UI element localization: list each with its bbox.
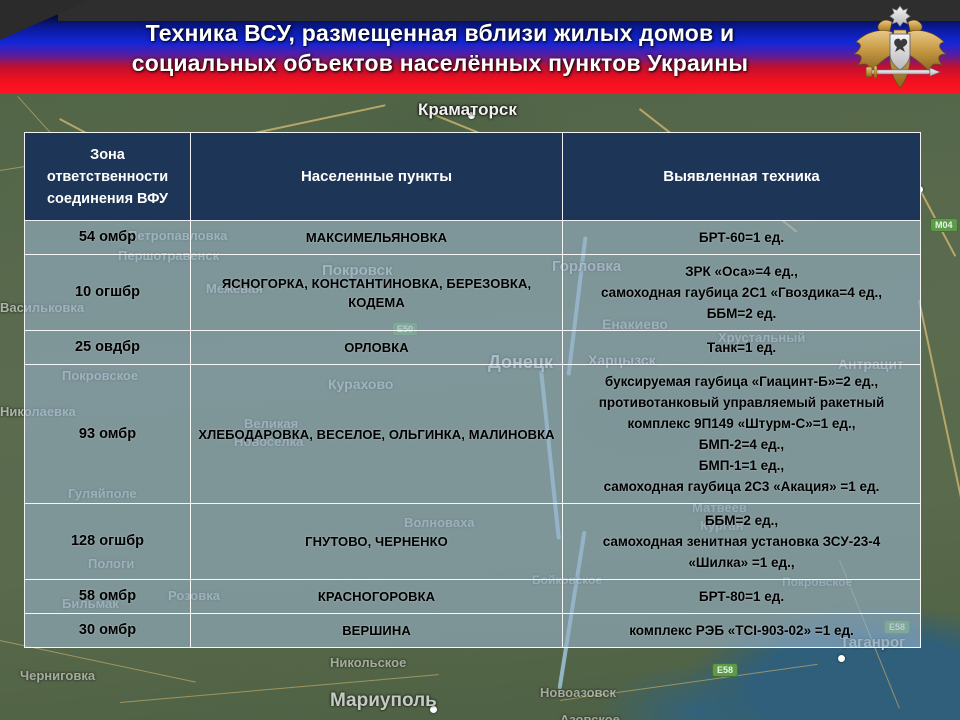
cell-settlements: МАКСИМЕЛЬЯНОВКА	[191, 221, 563, 255]
table-row: 58 омбрКРАСНОГОРОВКАБРТ-80=1 ед.	[25, 580, 921, 614]
title-banner: Техника ВСУ, размещенная вблизи жилых до…	[0, 0, 960, 93]
cell-equipment: буксируемая гаубица «Гиацинт-Б»=2 ед.,пр…	[563, 365, 921, 504]
table-row: 10 огшбрЯСНОГОРКА, КОНСТАНТИНОВКА, БЕРЕЗ…	[25, 255, 921, 331]
cell-equipment: комплекс РЭБ «TCI-903-02» =1 ед.	[563, 614, 921, 648]
cell-zone: 25 овдбр	[25, 331, 191, 365]
table-body: 54 омбрМАКСИМЕЛЬЯНОВКАБРТ-60=1 ед.10 огш…	[25, 221, 921, 648]
map-city-dot	[838, 655, 845, 662]
cell-equipment: ЗРК «Оса»=4 ед.,самоходная гаубица 2С1 «…	[563, 255, 921, 331]
column-header-zone-line3: соединения ВФУ	[33, 188, 182, 210]
page-title-line-1: Техника ВСУ, размещенная вблизи жилых до…	[40, 18, 840, 48]
table-row: 25 овдбрОРЛОВКАТанк=1 ед.	[25, 331, 921, 365]
cell-settlements: ХЛЕБОДАРОВКА, ВЕСЕЛОЕ, ОЛЬГИНКА, МАЛИНОВ…	[191, 365, 563, 504]
cell-zone: 10 огшбр	[25, 255, 191, 331]
emblem-cross-icon	[890, 6, 910, 26]
cell-zone: 30 омбр	[25, 614, 191, 648]
column-header-zone: Зона ответственности соединения ВФУ	[25, 133, 191, 221]
column-header-settlements: Населенные пункты	[191, 133, 563, 221]
map-label: Азовское	[560, 712, 620, 720]
map-highway-badge: M04	[930, 218, 958, 232]
table-row: 30 омбрВЕРШИНАкомплекс РЭБ «TCI-903-02» …	[25, 614, 921, 648]
cell-equipment: БРТ-60=1 ед.	[563, 221, 921, 255]
table-row: 93 омбрХЛЕБОДАРОВКА, ВЕСЕЛОЕ, ОЛЬГИНКА, …	[25, 365, 921, 504]
cell-settlements: ВЕРШИНА	[191, 614, 563, 648]
equipment-table: Зона ответственности соединения ВФУ Насе…	[24, 132, 921, 648]
rosgvardia-eagle-emblem-icon	[848, 2, 952, 92]
slide-root: КраматорскПетропавловкаПершотравенскПокр…	[0, 0, 960, 720]
cell-zone: 93 омбр	[25, 365, 191, 504]
column-header-equipment: Выявленная техника	[563, 133, 921, 221]
page-title-line-2: социальных объектов населённых пунктов У…	[40, 48, 840, 78]
map-label: Мариуполь	[330, 690, 437, 712]
cell-zone: 128 огшбр	[25, 504, 191, 580]
cell-settlements: ОРЛОВКА	[191, 331, 563, 365]
cell-equipment: ББМ=2 ед.,самоходная зенитная установка …	[563, 504, 921, 580]
column-header-zone-line2: ответственности	[33, 166, 182, 188]
column-header-zone-line1: Зона	[33, 144, 182, 166]
table-header-row: Зона ответственности соединения ВФУ Насе…	[25, 133, 921, 221]
map-label: Черниговка	[20, 668, 95, 683]
cell-equipment: Танк=1 ед.	[563, 331, 921, 365]
page-title: Техника ВСУ, размещенная вблизи жилых до…	[40, 18, 840, 78]
cell-zone: 58 омбр	[25, 580, 191, 614]
table-row: 128 огшбрГНУТОВО, ЧЕРНЕНКОББМ=2 ед.,само…	[25, 504, 921, 580]
map-label: Никольское	[330, 655, 406, 670]
map-label: Новоазовск	[540, 685, 616, 700]
map-label: Краматорск	[418, 100, 517, 120]
cell-settlements: ГНУТОВО, ЧЕРНЕНКО	[191, 504, 563, 580]
map-highway-badge: E58	[712, 663, 738, 677]
table-row: 54 омбрМАКСИМЕЛЬЯНОВКАБРТ-60=1 ед.	[25, 221, 921, 255]
cell-equipment: БРТ-80=1 ед.	[563, 580, 921, 614]
cell-zone: 54 омбр	[25, 221, 191, 255]
table-header: Зона ответственности соединения ВФУ Насе…	[25, 133, 921, 221]
cell-settlements: КРАСНОГОРОВКА	[191, 580, 563, 614]
cell-settlements: ЯСНОГОРКА, КОНСТАНТИНОВКА, БЕРЕЗОВКА, КО…	[191, 255, 563, 331]
